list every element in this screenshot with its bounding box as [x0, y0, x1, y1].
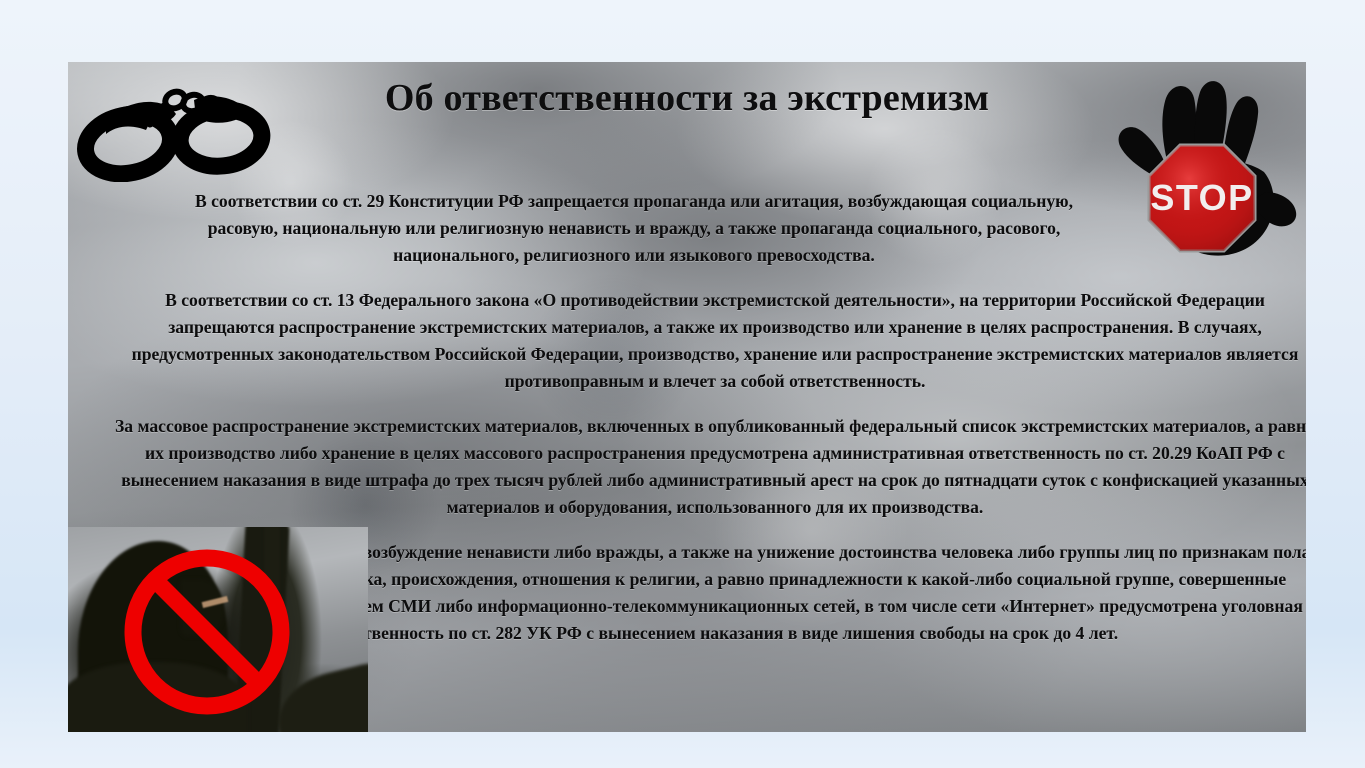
slide-root: Об ответственности за экстремизм: [0, 0, 1365, 768]
paragraph-constitution: В соответствии со ст. 29 Конституции РФ …: [164, 188, 1104, 269]
prohibition-sign-icon: [120, 545, 294, 719]
hand-stop-icon: STOP: [1102, 68, 1302, 268]
content-panel: Об ответственности за экстремизм: [68, 62, 1306, 732]
paragraph-federal-law: В соответствии со ст. 13 Федерального за…: [112, 287, 1306, 395]
paragraph-koap: За массовое распространение экстремистск…: [112, 413, 1306, 521]
no-militant-icon: [68, 527, 368, 732]
stop-sign-label: STOP: [1150, 177, 1253, 218]
handcuffs-icon: [76, 72, 276, 182]
